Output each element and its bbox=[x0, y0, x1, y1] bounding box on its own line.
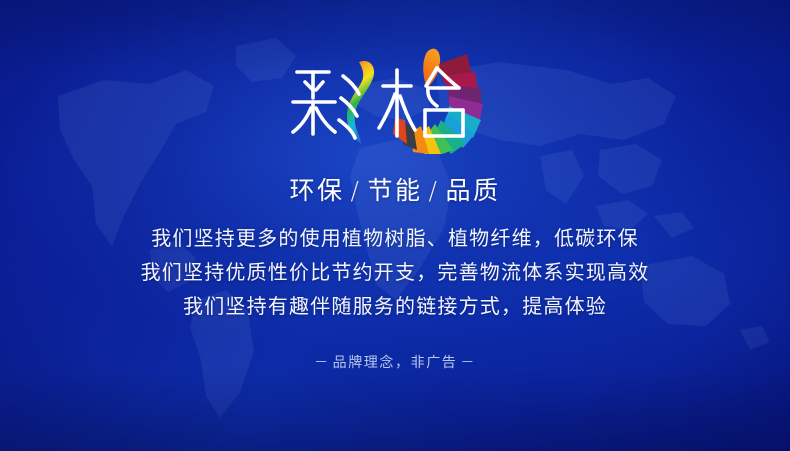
body-line-1: 我们坚持更多的使用植物树脂、植物纤维，低碳环保 bbox=[151, 225, 639, 252]
brand-logo-artwork bbox=[285, 42, 505, 154]
tagline-item-2: 节能 bbox=[367, 176, 422, 205]
tagline-item-3: 品质 bbox=[445, 176, 500, 205]
color-fan-icon bbox=[393, 49, 483, 154]
tagline-separator-2: / bbox=[423, 176, 446, 205]
tagline: 环保/节能/品质 bbox=[290, 178, 501, 203]
tagline-item-1: 环保 bbox=[290, 176, 345, 205]
brand-logo bbox=[285, 42, 505, 154]
body-text: 我们坚持更多的使用植物树脂、植物纤维，低碳环保 我们坚持优质性价比节约开支，完善… bbox=[141, 225, 650, 319]
body-line-2: 我们坚持优质性价比节约开支，完善物流体系实现高效 bbox=[141, 259, 650, 286]
banner-content: 环保/节能/品质 我们坚持更多的使用植物树脂、植物纤维，低碳环保 我们坚持优质性… bbox=[0, 0, 790, 451]
brand-banner: 环保/节能/品质 我们坚持更多的使用植物树脂、植物纤维，低碳环保 我们坚持优质性… bbox=[0, 0, 790, 451]
footnote-text: 品牌理念，非广告 bbox=[333, 355, 458, 371]
tagline-separator-1: / bbox=[345, 176, 368, 205]
footnote-dash-right: － bbox=[457, 355, 479, 371]
footnote: －品牌理念，非广告－ bbox=[311, 352, 479, 372]
body-line-3: 我们坚持有趣伴随服务的链接方式，提高体验 bbox=[183, 293, 607, 320]
footnote-dash-left: － bbox=[311, 355, 333, 371]
